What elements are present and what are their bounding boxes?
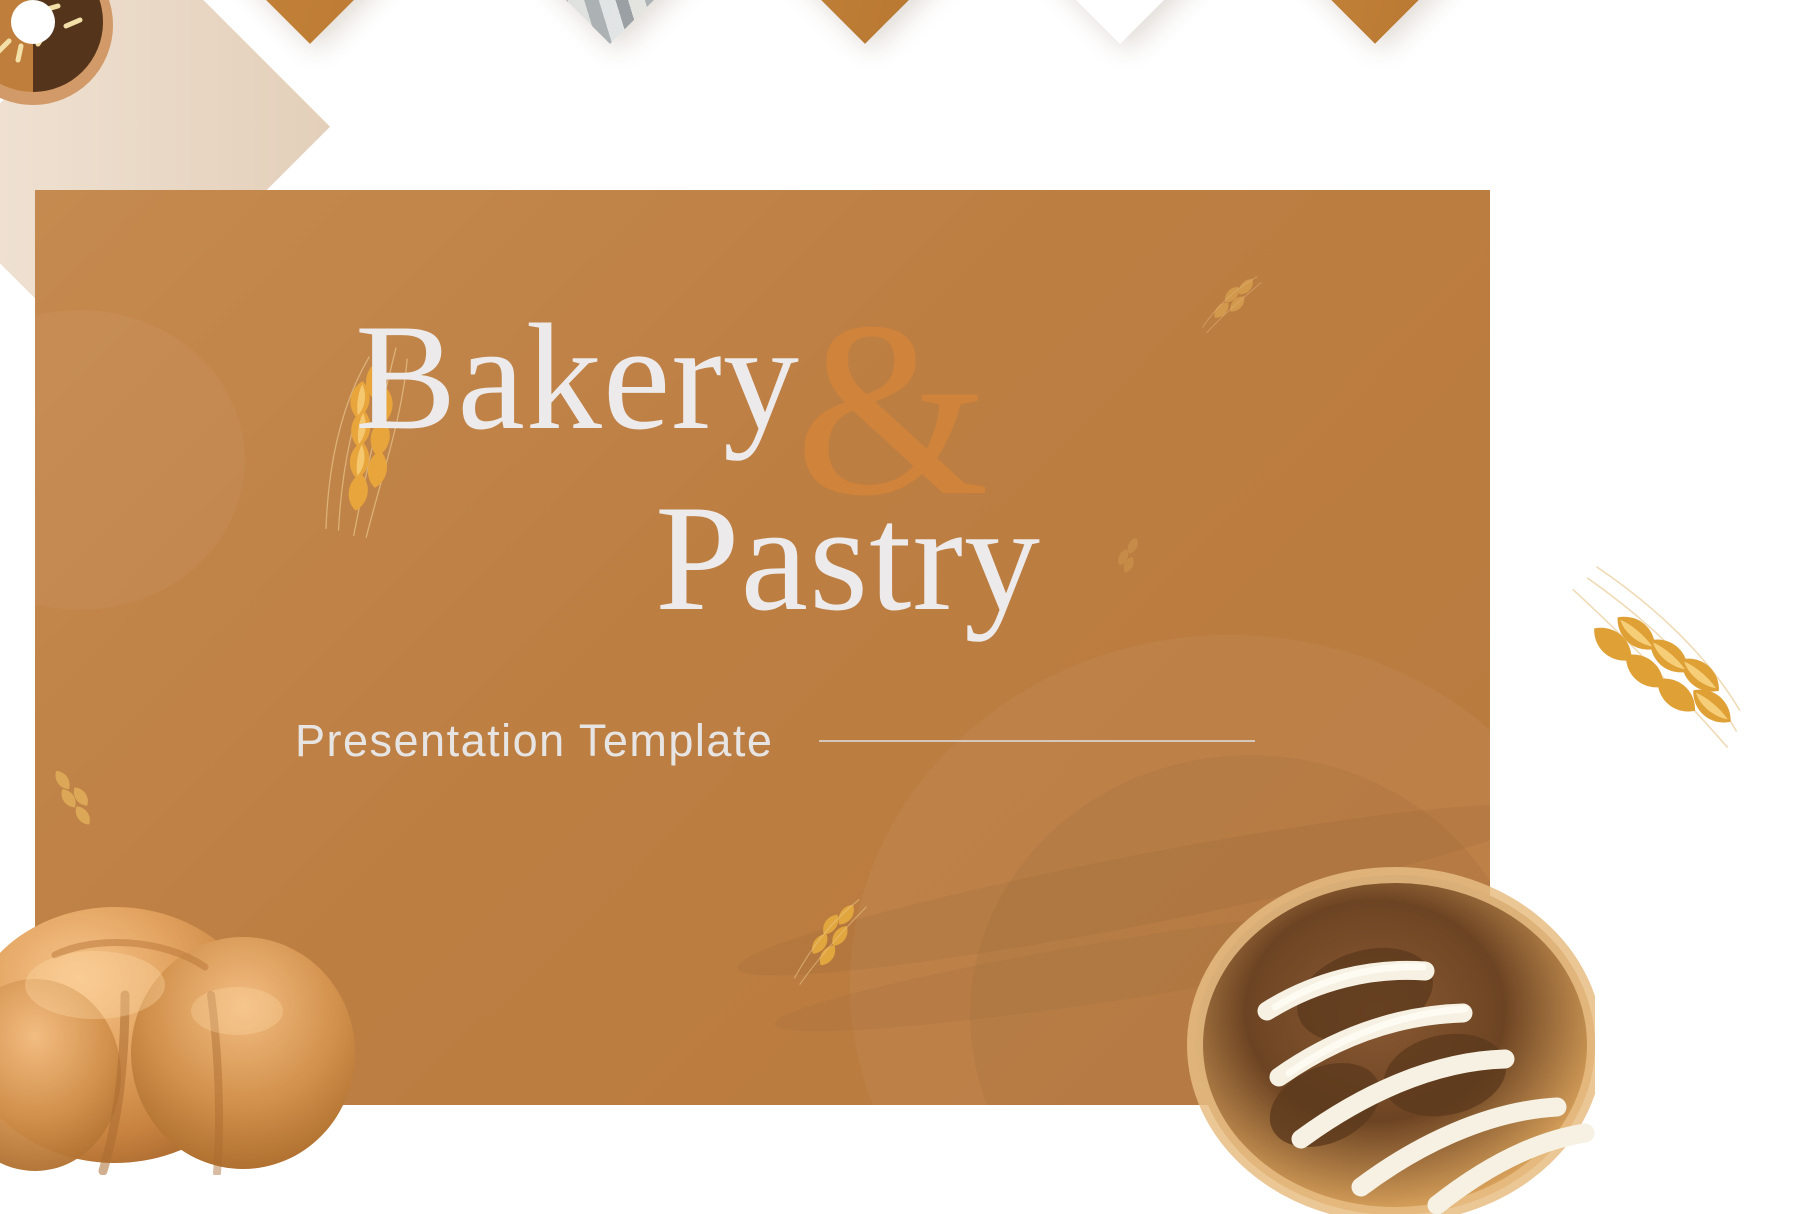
subtitle-text: Presentation Template [295, 715, 773, 767]
slide-thumbnail-cupcake[interactable]: Special Cupcake Lorem Ipsum is simply du… [306, 0, 914, 44]
slide-thumbnail-price-list[interactable]: Lorem Ipsum is simply dummy text typeset… [1071, 0, 1679, 44]
watermark-shape [35, 310, 245, 610]
danish-pastry-photo [1175, 815, 1595, 1214]
subtitle-row: Presentation Template [295, 715, 1255, 767]
subtitle-rule [819, 740, 1255, 742]
slide-wedge [1229, 0, 1588, 44]
slide-mockup-canvas: Bakery Pastry & Presentation Template [0, 0, 1820, 1214]
slide-wedge [670, 0, 1084, 44]
title-line-2: Pastry [355, 481, 1255, 636]
donut-icon [0, 0, 118, 110]
bread-roll-photo [0, 835, 365, 1175]
cupcake-photo [306, 0, 829, 44]
slide-thumbnail-cakes[interactable]: Lorem Ipsum is simply dummy text of the … [816, 0, 1424, 44]
wheat-stalk-icon [1496, 499, 1820, 826]
slide-wedge [134, 0, 614, 44]
slide-thumbnail-for-you[interactable]: for You Lorem Ipsum is simply dummy text… [561, 0, 1169, 44]
